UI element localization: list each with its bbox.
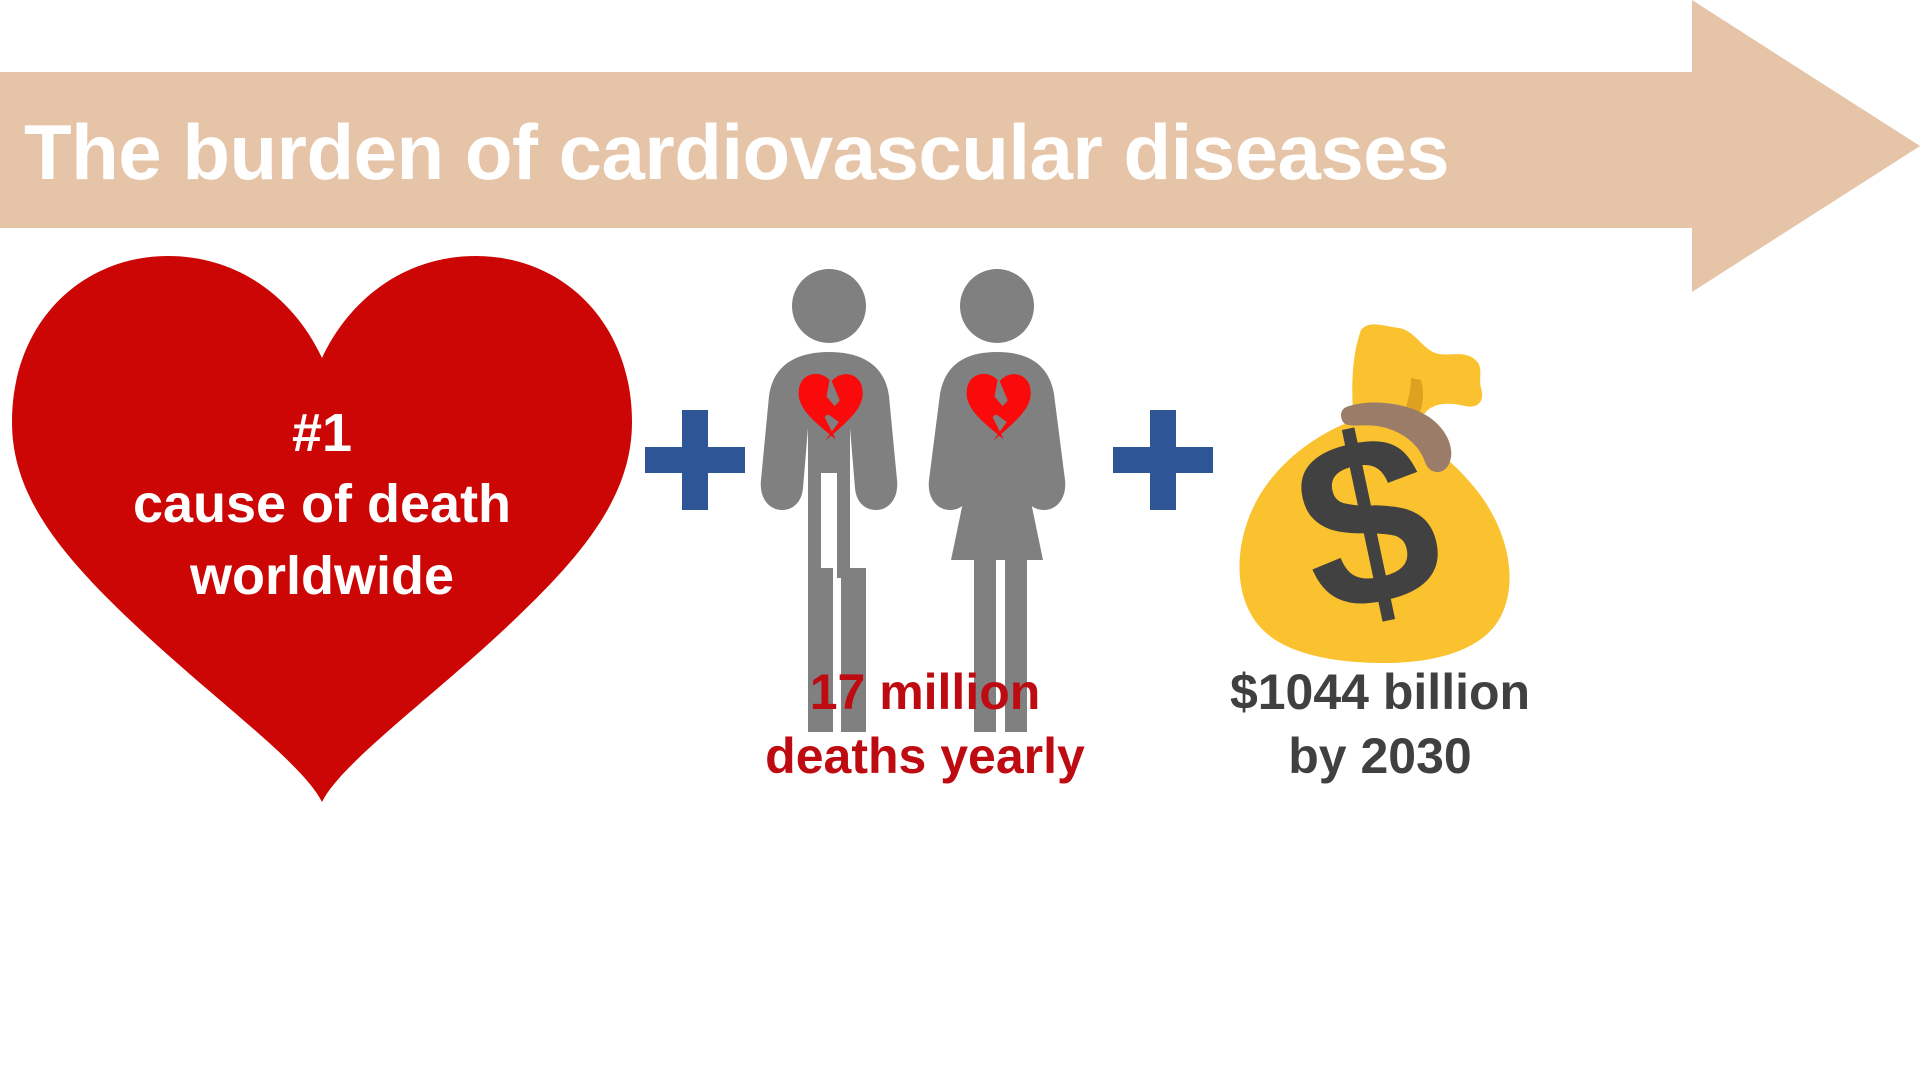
cost-caption-line-1: $1044 billion xyxy=(1110,660,1650,724)
plus-icon-1 xyxy=(645,410,745,510)
cost-caption-line-2: by 2030 xyxy=(1110,724,1650,788)
plus-icon-1-vertical-bar xyxy=(682,410,708,510)
infographic-canvas: The burden of cardiovascular diseases #1… xyxy=(0,0,1920,1080)
money-bag-icon: $ xyxy=(1235,318,1515,663)
page-title-text: The burden of cardiovascular diseases xyxy=(24,113,1449,191)
plus-icon-2-vertical-bar xyxy=(1150,410,1176,510)
heart-path xyxy=(12,256,632,802)
cost-caption: $1044 billion by 2030 xyxy=(1110,660,1650,788)
male-head-icon xyxy=(792,269,866,343)
heart-stat-block: #1 cause of death worldwide xyxy=(2,246,642,806)
heart-icon xyxy=(2,246,642,806)
plus-icon-2 xyxy=(1113,410,1213,510)
page-title: The burden of cardiovascular diseases xyxy=(24,82,1664,222)
male-torso-shape xyxy=(761,352,898,578)
female-head-icon xyxy=(960,269,1034,343)
